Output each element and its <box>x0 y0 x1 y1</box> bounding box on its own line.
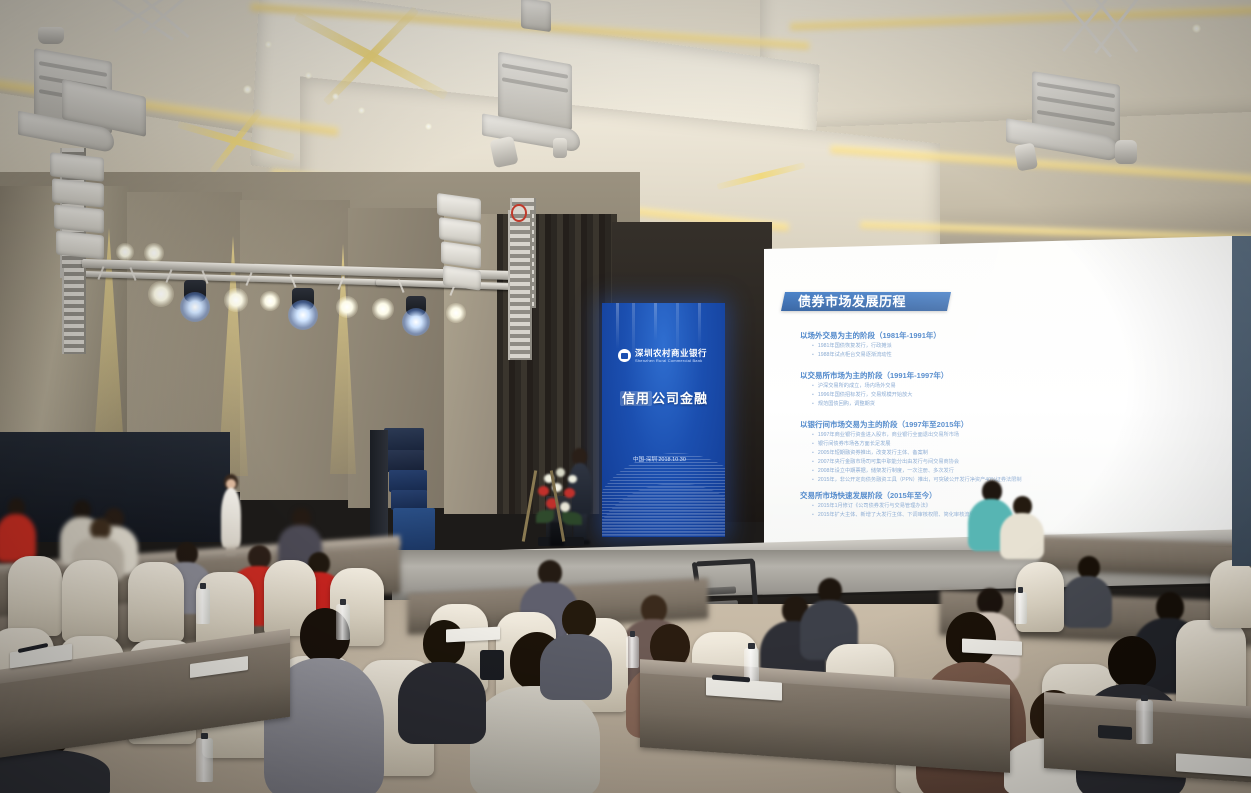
water-bottle[interactable] <box>336 604 350 640</box>
banquet-chair <box>62 560 118 642</box>
par-light <box>144 243 164 263</box>
foliage <box>562 512 582 525</box>
bank-logo-row: 深圳农村商业银行 Shenzhen Rural Commercial Bank <box>618 349 707 363</box>
slide-bullet: 2015年扩大主体、新增了大发行主体、下调审核权限、简化审核流程 <box>812 511 975 518</box>
headline-rest: 公司金融 <box>652 391 708 406</box>
slide-section-heading: 以场外交易为主的阶段（1981年-1991年） <box>800 330 941 341</box>
banquet-chair <box>128 562 184 642</box>
water-bottle[interactable] <box>626 636 639 668</box>
slide-section-heading: 以银行间市场交易为主的阶段（1997年至2015年） <box>800 419 968 430</box>
par-light <box>116 243 134 261</box>
audience-head <box>1108 636 1156 688</box>
water-bottle[interactable] <box>1014 592 1027 624</box>
ceiling-star-accent <box>370 55 371 56</box>
slide-bullet: 1981年国债恢复发行，行政摊派 <box>812 342 892 349</box>
slide-bullet: 银行间债券市场各方面长足发展 <box>812 440 890 447</box>
headline-highlight: 信用 <box>620 391 652 406</box>
audience-body <box>1062 576 1112 628</box>
ceiling-downlight <box>358 107 365 114</box>
hostess-dress <box>221 488 241 548</box>
ceiling-hung-speaker <box>521 0 551 32</box>
moving-head-light <box>38 27 64 44</box>
audience-body <box>0 750 110 793</box>
water-bottle[interactable] <box>196 738 213 782</box>
scissor-hoist <box>112 0 212 54</box>
ceiling-downlight <box>332 93 339 100</box>
ceiling-downlight <box>243 85 252 94</box>
audience-person <box>0 498 36 558</box>
slide-section-heading: 以交易所市场为主的阶段（1991年-1997年） <box>800 370 948 381</box>
banquet-chair <box>1210 560 1251 628</box>
panel-streak <box>616 303 619 349</box>
flower <box>556 468 565 477</box>
audience-person <box>540 600 612 696</box>
par-light <box>446 303 466 323</box>
moving-head-beam <box>402 308 430 336</box>
moving-head-beam <box>180 292 210 322</box>
moving-head-light <box>1115 140 1137 164</box>
bank-name-en: Shenzhen Rural Commercial Bank <box>635 359 707 363</box>
blue-speaker-stack <box>391 490 427 510</box>
water-bottle[interactable] <box>1136 700 1153 744</box>
slide-bullet: 1997年商业银行资金进入股市，商业银行全面退出交易所市场 <box>812 431 959 438</box>
speaker-tower <box>62 268 86 354</box>
side-panel-date: 中国·深圳 2018.10.30 <box>633 455 686 463</box>
ceiling-downlight <box>265 41 272 48</box>
moving-head-light <box>1014 142 1038 171</box>
blue-speaker-stack <box>384 428 424 452</box>
slide-bullet: 1988年试点柜台交易逐渐流动性 <box>812 351 892 358</box>
flower <box>568 475 577 483</box>
ceiling-downlight <box>1192 24 1201 33</box>
bank-name-cn: 深圳农村商业银行 <box>635 349 707 358</box>
slide-bullet: 1996年国债招标发行，交易规模开始放大 <box>812 391 912 398</box>
audience-head <box>423 620 465 666</box>
slide-title: 债券市场发展历程 <box>798 294 906 309</box>
flower <box>538 486 549 496</box>
panel-wave-graphic <box>602 434 725 537</box>
scissor-hoist <box>1060 0 1168 90</box>
slide-bullet: 2007年央行金融市场司可集中职能分出由发行与间交易商协会 <box>812 458 959 465</box>
slide-bullet: 2015年1月修订《公司债券发行与交易管理办法》 <box>812 502 931 509</box>
bank-logo-icon <box>618 349 631 362</box>
audience-head <box>562 600 596 638</box>
slide-bullet: 沪深交易所的成立，场内场外交易 <box>812 382 896 389</box>
audience-person <box>1000 496 1044 556</box>
truss-hook-icon <box>511 204 527 222</box>
audience-body <box>540 634 612 700</box>
ceiling-star-accent <box>760 175 761 176</box>
slide-section-heading: 交易所市场快速发展阶段（2015年至今） <box>800 490 937 501</box>
panel-streak <box>698 303 701 347</box>
audience-person <box>1062 556 1112 626</box>
side-panel-headline: 信用公司金融 <box>620 388 708 407</box>
par-light <box>224 288 248 312</box>
ceiling-downlight <box>425 123 432 130</box>
audience-body <box>0 514 36 562</box>
ceiling-star-accent <box>235 140 236 141</box>
ceiling-downlight <box>305 72 312 79</box>
moving-head-light <box>553 138 567 158</box>
par-light <box>260 291 280 311</box>
audience-head <box>977 588 1003 615</box>
truss-tower <box>508 210 532 360</box>
side-led-panel <box>602 303 725 537</box>
flower-arrangement <box>534 466 598 544</box>
audience-body <box>470 686 600 793</box>
conference-hall-photo: 债券市场发展历程 以场外交易为主的阶段（1981年-1991年） 1981年国债… <box>0 0 1251 793</box>
line-array-speaker <box>437 196 481 292</box>
par-light <box>148 281 174 307</box>
banquet-chair <box>8 556 62 636</box>
par-light <box>336 296 358 318</box>
water-bottle[interactable] <box>196 588 210 624</box>
right-wall <box>1232 236 1251 566</box>
line-array-speaker <box>50 155 104 275</box>
slide-bullet: 规范国债回购，调整期货 <box>812 400 875 407</box>
slide-bullet: 2005年短期融资券推出，改变发行主体、备案制 <box>812 449 928 456</box>
phone[interactable] <box>1098 725 1132 740</box>
blue-speaker-stack <box>386 450 424 472</box>
flower <box>564 488 575 498</box>
moving-head-beam <box>288 300 318 330</box>
slide-bullet: 2008年设立中期票据，储架发行制度，一次注册、多次发行 <box>812 467 954 474</box>
phone[interactable] <box>480 650 504 680</box>
audience-body <box>1000 513 1044 559</box>
blue-speaker-stack <box>389 470 427 492</box>
audience-body <box>398 662 486 744</box>
par-light <box>372 298 394 320</box>
panel-streak <box>654 303 657 341</box>
flower <box>560 502 570 512</box>
